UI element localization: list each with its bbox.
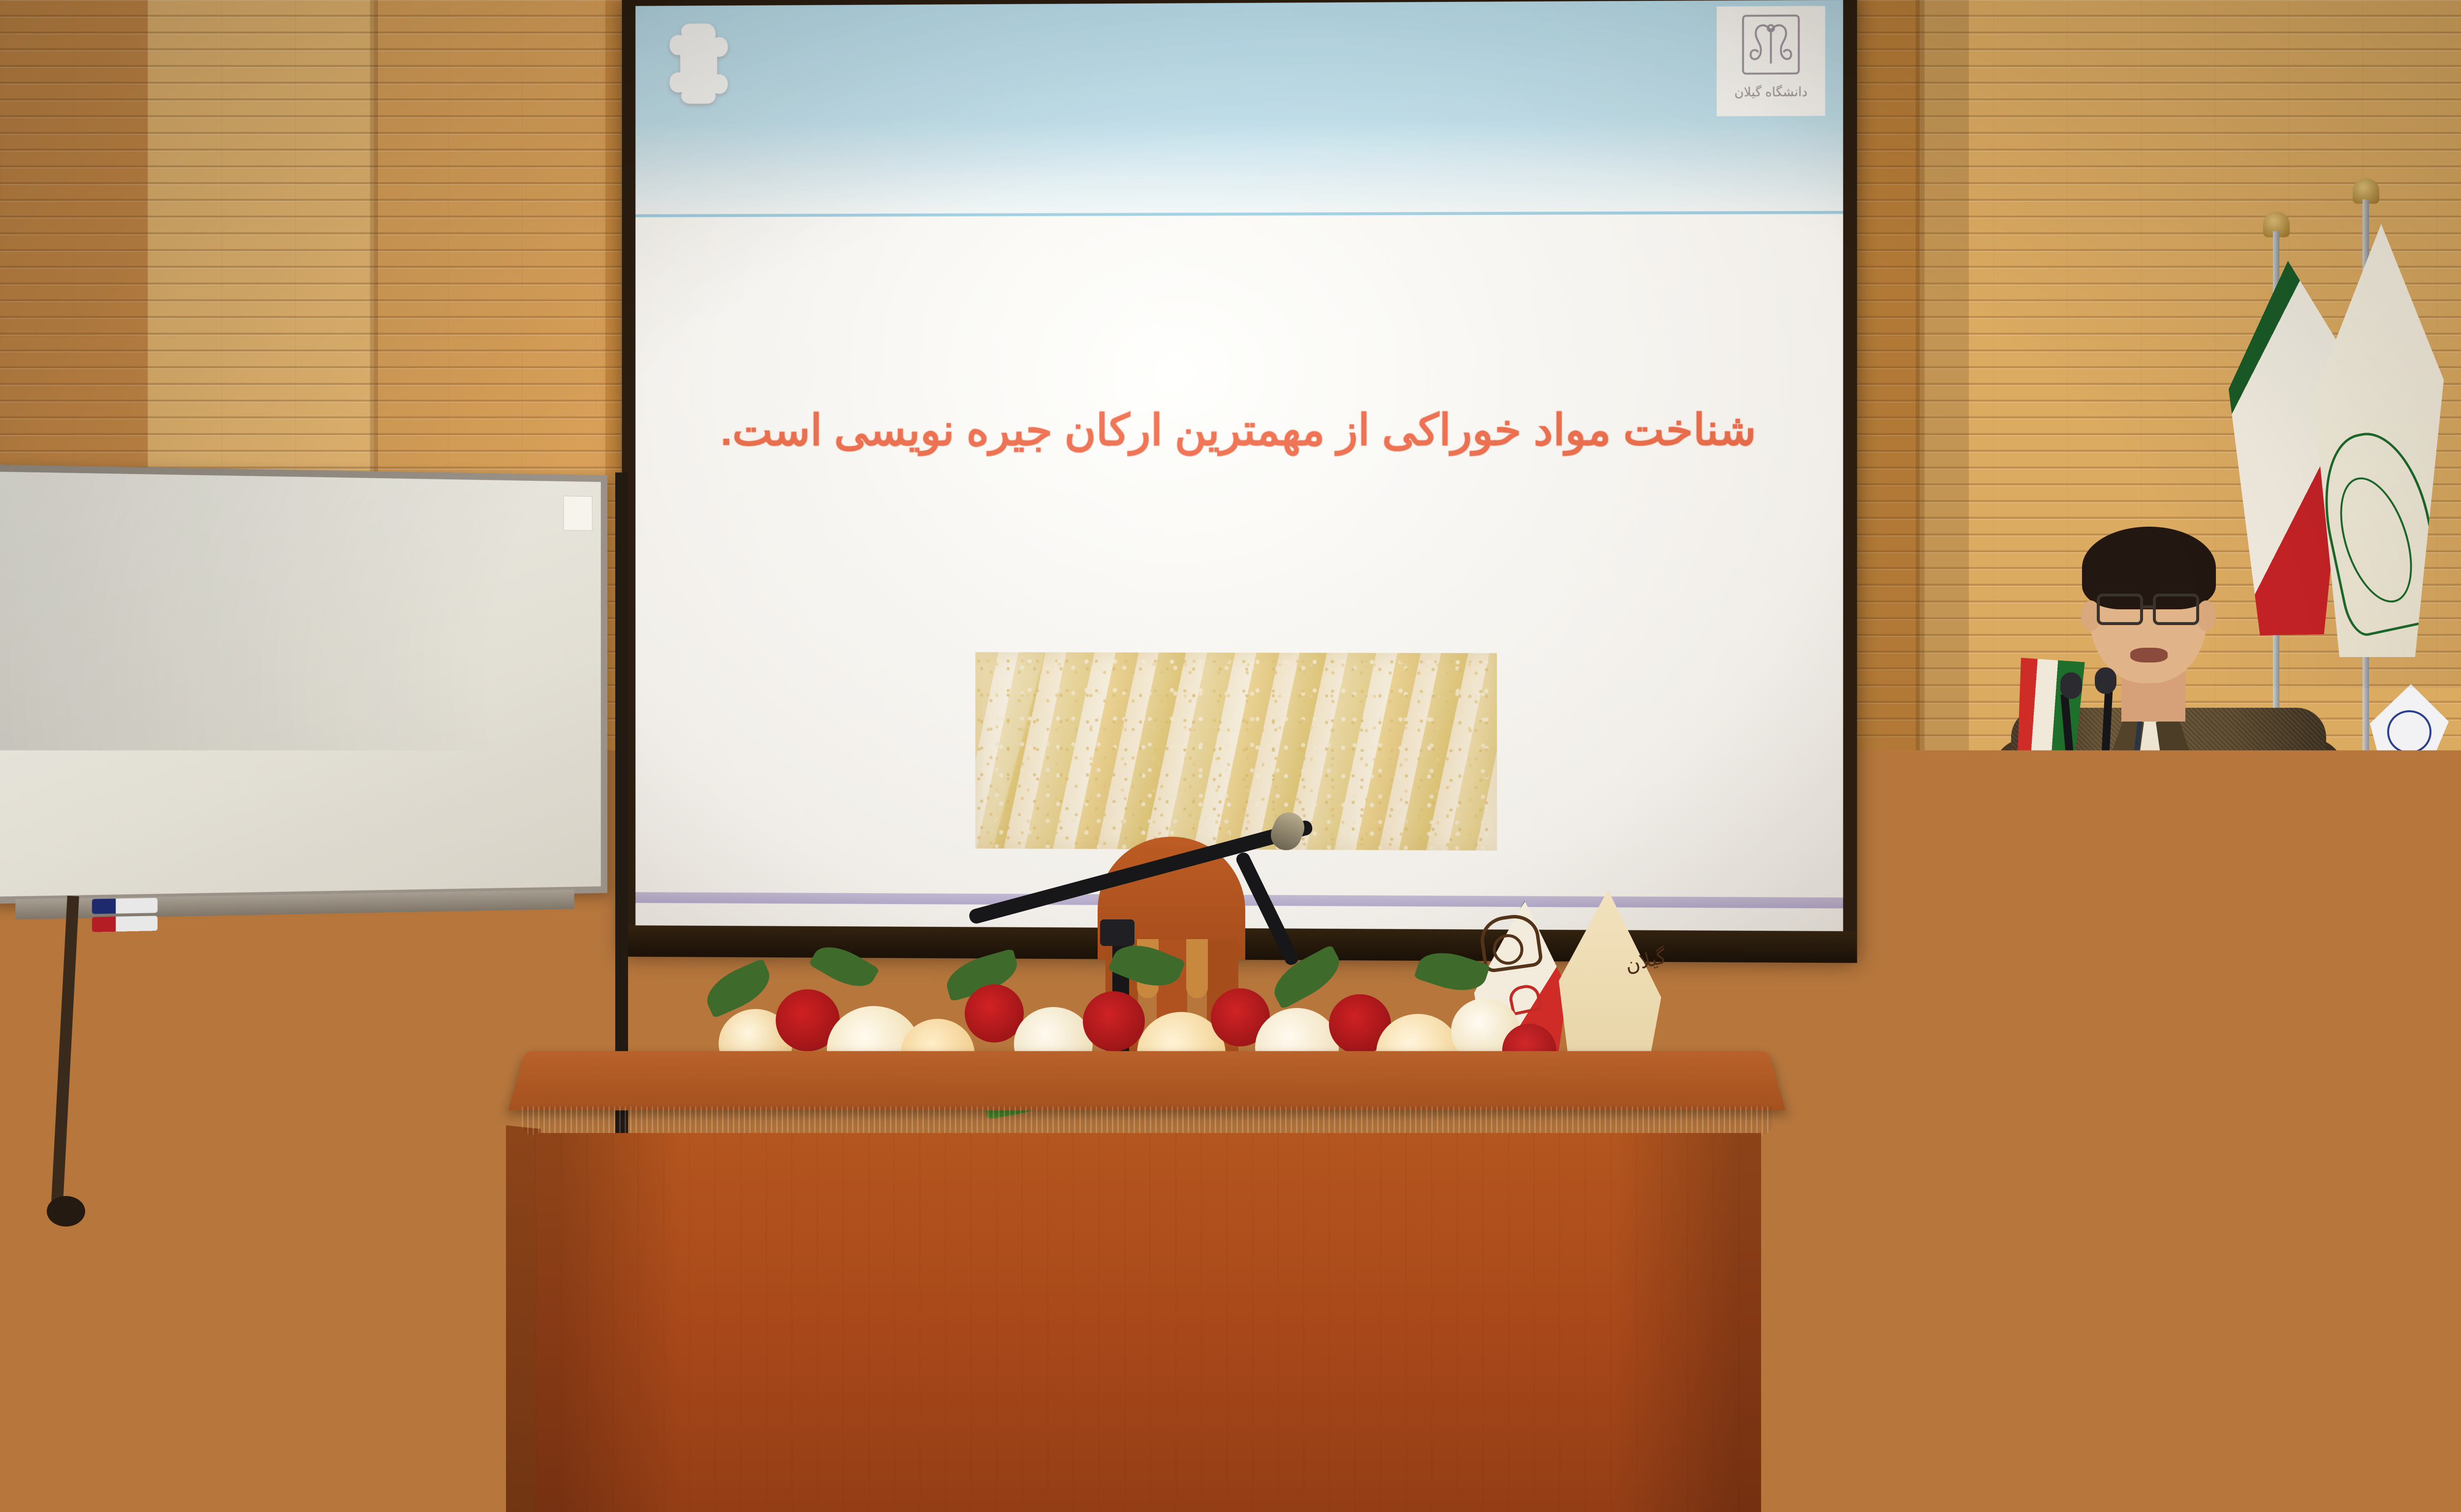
speaker-hand	[2006, 1102, 2053, 1157]
logo-caption: دانشگاه گیلان	[1735, 84, 1808, 100]
screen-surface: دانشگاه گیلان شناخت مواد خوراکی از مهمتر…	[635, 0, 1843, 931]
leaf	[809, 937, 880, 996]
speaker-podium: دانشگاه گیلان	[2067, 920, 2461, 1512]
podium-emblem-plaque: دانشگاه گیلان	[2250, 1126, 2347, 1249]
slide-title-text: شناخت مواد خوراکی از مهمترین ارکان جیره …	[635, 401, 1843, 460]
conference-desk	[517, 1048, 1777, 1512]
blue-marker[interactable]	[92, 898, 158, 914]
glasses-bridge	[2142, 605, 2155, 608]
conference-hall-photo: دانشگاه گیلان شناخت مواد خوراکی از مهمتر…	[0, 0, 2461, 1512]
speaker-ear	[2196, 600, 2216, 631]
glasses-icon	[2153, 594, 2199, 625]
podium-microphone-head	[2060, 672, 2082, 699]
watermark-year-fa: ۱۳۵۳	[539, 1330, 604, 1366]
presentation-slide: دانشگاه گیلان شناخت مواد خوراکی از مهمتر…	[635, 0, 1843, 931]
grain-texture	[976, 652, 1497, 850]
leaf	[1414, 944, 1490, 999]
desk-top-surface	[508, 1051, 1785, 1111]
whiteboard[interactable]	[0, 465, 607, 904]
university-watermark: گیلان دانشگاه ۱۳۵۳ 1974 UNIVERSITY OF GU…	[0, 1201, 640, 1398]
puzzle-piece-icon	[654, 16, 752, 117]
watermark-name-en: UNIVERSITY OF GUILAN	[21, 1328, 538, 1377]
emblem-dot	[477, 1280, 490, 1303]
projection-screen: دانشگاه گیلان شناخت مواد خوراکی از مهمتر…	[622, 0, 1857, 963]
podium-microphone-head	[2095, 667, 2116, 694]
desk-front-panel	[536, 1133, 1761, 1512]
leaf	[699, 958, 777, 1019]
red-marker[interactable]	[92, 916, 158, 932]
lapel-pin	[2213, 768, 2234, 790]
guilan-emblem-icon	[1739, 13, 1802, 82]
slide-body: شناخت مواد خوراکی از مهمترین ارکان جیره …	[635, 214, 1843, 931]
rose-bloom	[1083, 991, 1145, 1051]
slide-header-band: دانشگاه گیلان	[635, 0, 1843, 218]
plaque-text: دانشگاه گیلان	[2260, 1209, 2337, 1239]
watermark-year-en: 1974	[109, 1294, 189, 1333]
floor-power-strip[interactable]	[2289, 1299, 2456, 1328]
glasses-icon	[2097, 594, 2143, 625]
watermark-name-fa-top: گیلان	[231, 1240, 428, 1319]
podium-top-surface	[2050, 920, 2461, 950]
leaf	[1266, 945, 1347, 1009]
desk-edge-trim	[522, 1106, 1772, 1135]
speaker-mouth	[2130, 648, 2168, 662]
slide-university-logo: دانشگاه گیلان	[1717, 6, 1825, 116]
whiteboard-surface[interactable]	[0, 472, 601, 896]
whiteboard-corner-label	[564, 496, 593, 531]
slide-photo-grains	[976, 652, 1497, 850]
leaf	[1108, 936, 1186, 996]
banner-ring-icon	[2387, 710, 2431, 753]
